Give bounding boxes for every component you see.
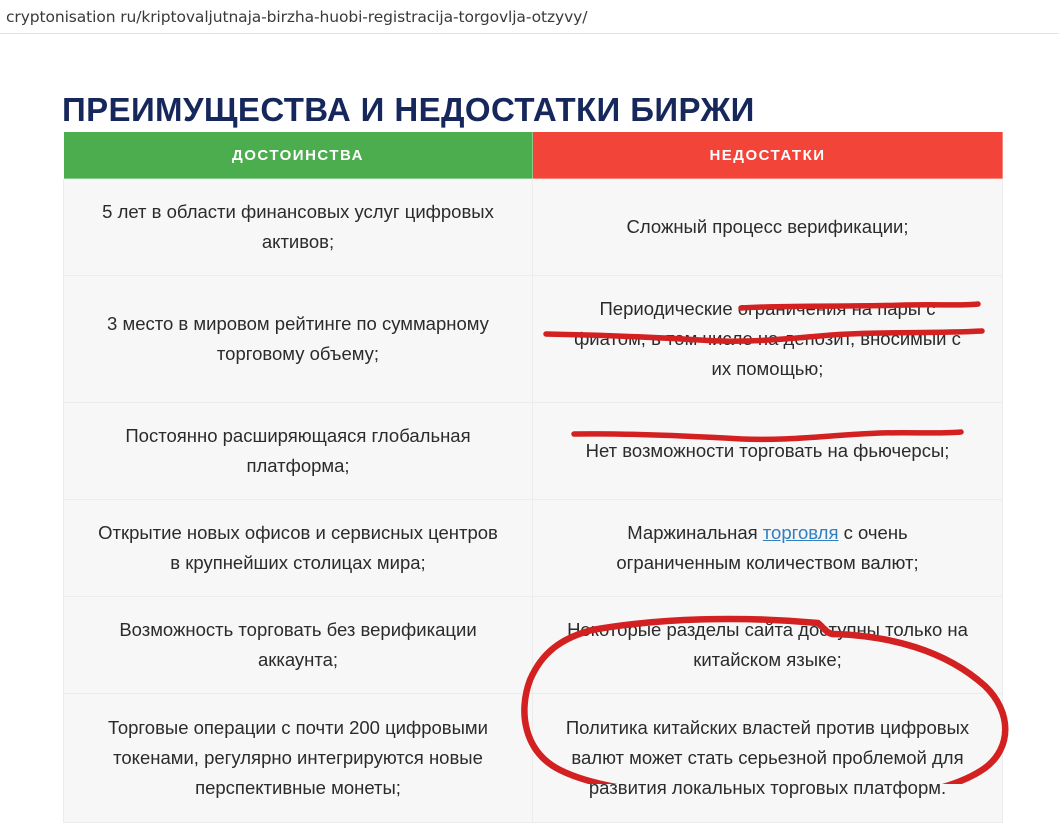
cell-pros: 5 лет в области финансовых услуг цифровы… xyxy=(64,179,533,276)
cell-pros: Открытие новых офисов и сервисных центро… xyxy=(64,499,533,596)
table-row: 3 место в мировом рейтинге по суммарному… xyxy=(64,275,1003,402)
page-content: ПРЕИМУЩЕСТВА И НЕДОСТАТКИ БИРЖИ ДОСТОИНС… xyxy=(0,34,1059,784)
cons-text-prefix: Маржинальная xyxy=(627,522,763,543)
table-header-cons: НЕДОСТАТКИ xyxy=(533,132,1003,179)
cons-text-prefix: Периодические xyxy=(600,298,738,319)
table-row: Возможность торговать без верификации ак… xyxy=(64,596,1003,693)
cell-pros: Торговые операции с почти 200 цифровыми … xyxy=(64,693,533,822)
cell-pros: 3 место в мировом рейтинге по суммарному… xyxy=(64,275,533,402)
table-row: Торговые операции с почти 200 цифровыми … xyxy=(64,693,1003,822)
table-row: Открытие новых офисов и сервисных центро… xyxy=(64,499,1003,596)
cell-cons: Сложный процесс верификации; xyxy=(533,179,1003,276)
cons-text-suffix: их помощью; xyxy=(712,358,824,379)
table-row: Постоянно расширяющаяся глобальная платф… xyxy=(64,402,1003,499)
cell-pros: Возможность торговать без верификации ак… xyxy=(64,596,533,693)
table-header-row: ДОСТОИНСТВА НЕДОСТАТКИ xyxy=(64,132,1003,179)
url-text: cryptonisation ru/kriptovaljutnaja-birzh… xyxy=(6,8,587,26)
cell-pros: Постоянно расширяющаяся глобальная платф… xyxy=(64,402,533,499)
table-row: 5 лет в области финансовых услуг цифровы… xyxy=(64,179,1003,276)
cell-cons: Некоторые разделы сайта доступны только … xyxy=(533,596,1003,693)
trading-link[interactable]: торговля xyxy=(763,522,839,543)
pros-cons-table: ДОСТОИНСТВА НЕДОСТАТКИ 5 лет в области ф… xyxy=(63,131,1003,823)
cell-cons: Нет возможности торговать на фьючерсы; xyxy=(533,402,1003,499)
cell-cons: Маржинальная торговля с очень ограниченн… xyxy=(533,499,1003,596)
page-title: ПРЕИМУЩЕСТВА И НЕДОСТАТКИ БИРЖИ xyxy=(62,91,755,129)
cell-cons: Политика китайских властей против цифров… xyxy=(533,693,1003,822)
cell-cons: Периодические ограничения на пары с фиат… xyxy=(533,275,1003,402)
browser-url-bar[interactable]: cryptonisation ru/kriptovaljutnaja-birzh… xyxy=(0,0,1059,33)
table-header-pros: ДОСТОИНСТВА xyxy=(64,132,533,179)
